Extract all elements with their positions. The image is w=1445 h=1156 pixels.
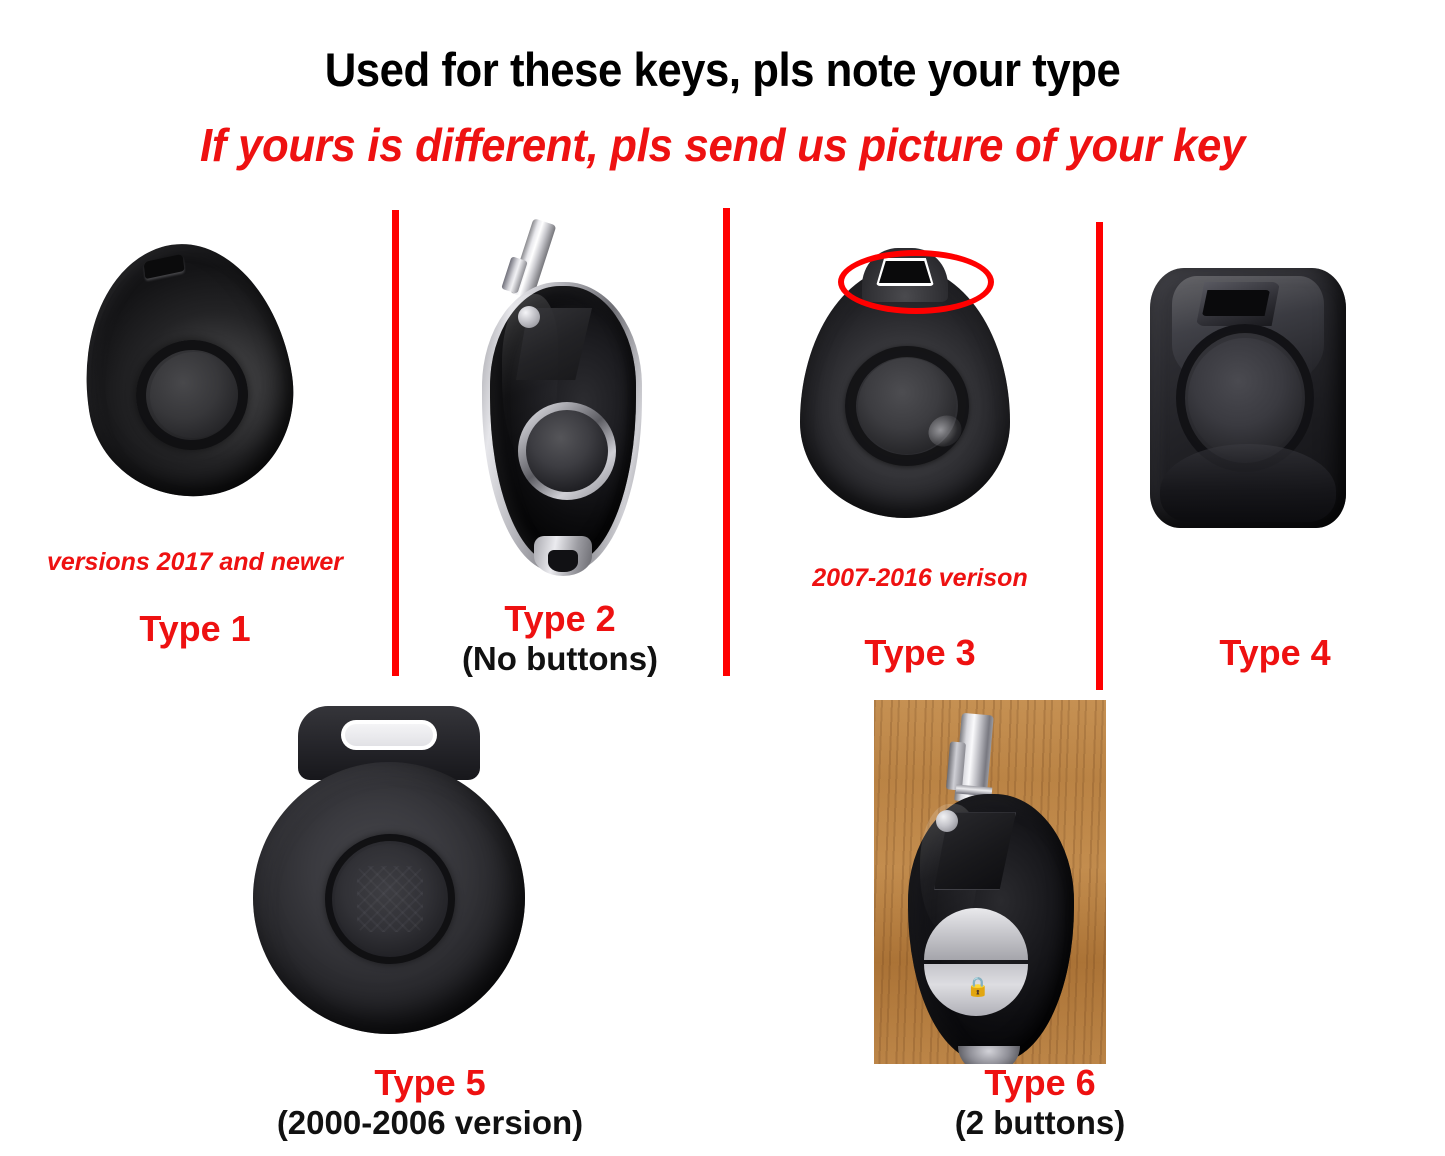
keyring-slot-icon xyxy=(1202,290,1270,316)
type-2-note-label: (No buttons) xyxy=(400,640,720,678)
key-fob-type-6-photo: 🔒 xyxy=(874,700,1106,1064)
keyring-slot-inner xyxy=(345,724,433,746)
key-fob-type-1 xyxy=(84,244,290,504)
red-ellipse-annotation-icon xyxy=(838,250,994,314)
fob-led-dot xyxy=(518,306,540,328)
type-6-note-label: (2 buttons) xyxy=(850,1104,1230,1142)
type-1-label: Type 1 xyxy=(0,608,390,650)
page-subtitle: If yours is different, pls send us pictu… xyxy=(36,118,1409,172)
divider-2 xyxy=(723,208,730,676)
divider-3 xyxy=(1096,222,1103,690)
key-fob-type-5 xyxy=(253,706,525,1038)
key-type-reference-chart: Used for these keys, pls note your type … xyxy=(0,0,1445,1156)
fob-led-dot xyxy=(936,810,958,832)
type-5-label: Type 5 xyxy=(230,1062,630,1104)
key-fob-type-4 xyxy=(1150,268,1346,538)
type-3-label: Type 3 xyxy=(740,632,1100,674)
fob-foot-hole xyxy=(548,550,578,572)
type-5-note-label: (2000-2006 version) xyxy=(230,1104,630,1142)
type-4-label: Type 4 xyxy=(1110,632,1440,674)
key-fob-type-2 xyxy=(468,220,658,580)
lock-icon: 🔒 xyxy=(966,976,984,998)
type-2-label: Type 2 xyxy=(400,598,720,640)
divider-1 xyxy=(392,210,399,676)
fob-button xyxy=(526,410,608,492)
type-1-version-label: versions 2017 and newer xyxy=(0,548,390,577)
type-6-label: Type 6 xyxy=(850,1062,1230,1104)
page-title: Used for these keys, pls note your type xyxy=(51,42,1395,97)
fob-button xyxy=(1188,338,1302,458)
button-emboss-pattern xyxy=(357,866,423,932)
type-3-version-label: 2007-2016 verison xyxy=(740,564,1100,593)
